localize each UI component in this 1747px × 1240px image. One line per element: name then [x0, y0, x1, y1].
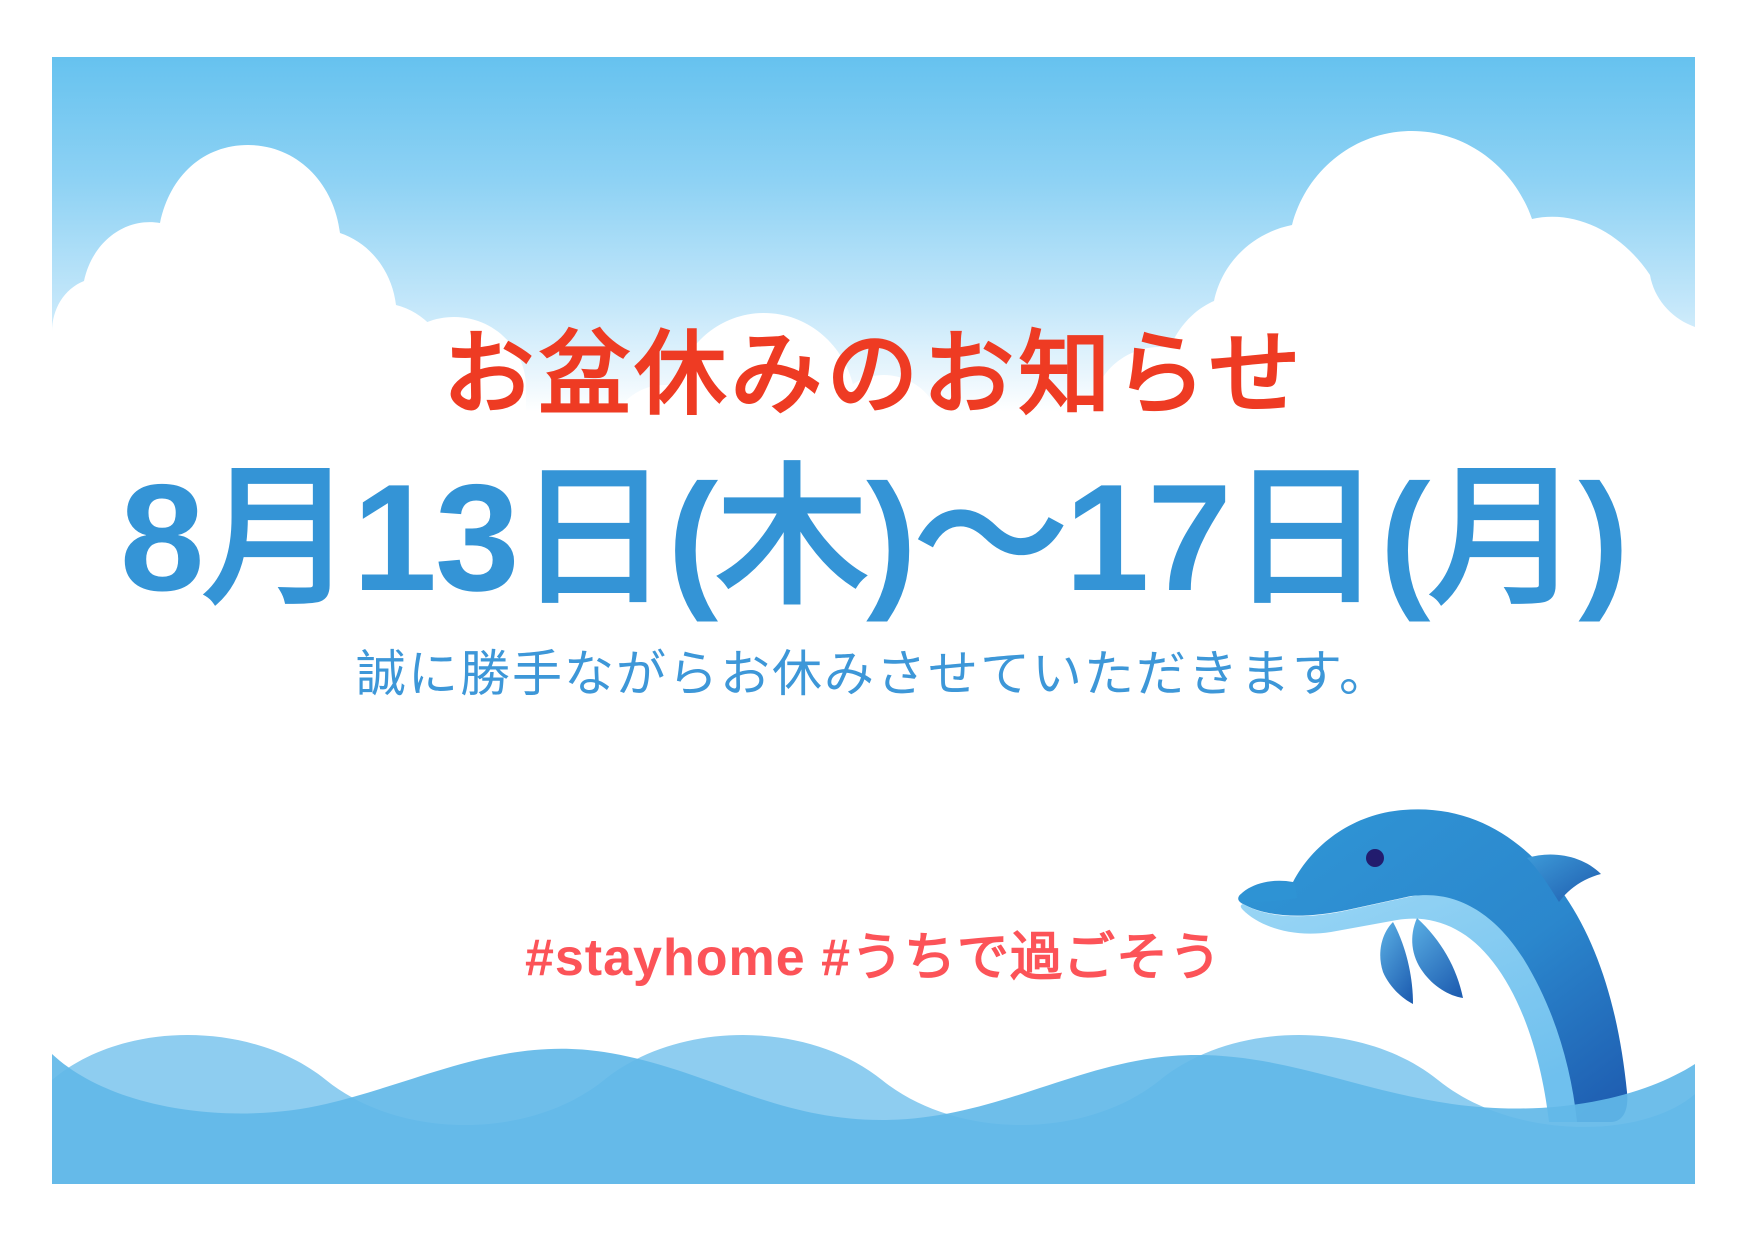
poster-canvas: お盆休みのお知らせ 8月13日(木)〜17日(月) 誠に勝手ながらお休みさせてい…	[52, 57, 1695, 1184]
dolphin-eye	[1366, 849, 1384, 867]
holiday-subtitle: 誠に勝手ながらお休みさせていただきます。	[356, 649, 1391, 699]
obon-notice-poster: お盆休みのお知らせ 8月13日(木)〜17日(月) 誠に勝手ながらお休みさせてい…	[0, 0, 1747, 1240]
page-title: お盆休みのお知らせ	[442, 329, 1304, 421]
holiday-date-range: 8月13日(木)〜17日(月)	[120, 459, 1627, 619]
hashtag-line: #stayhome #うちで過ごそう	[525, 915, 1222, 990]
wave-layer	[52, 994, 1695, 1184]
